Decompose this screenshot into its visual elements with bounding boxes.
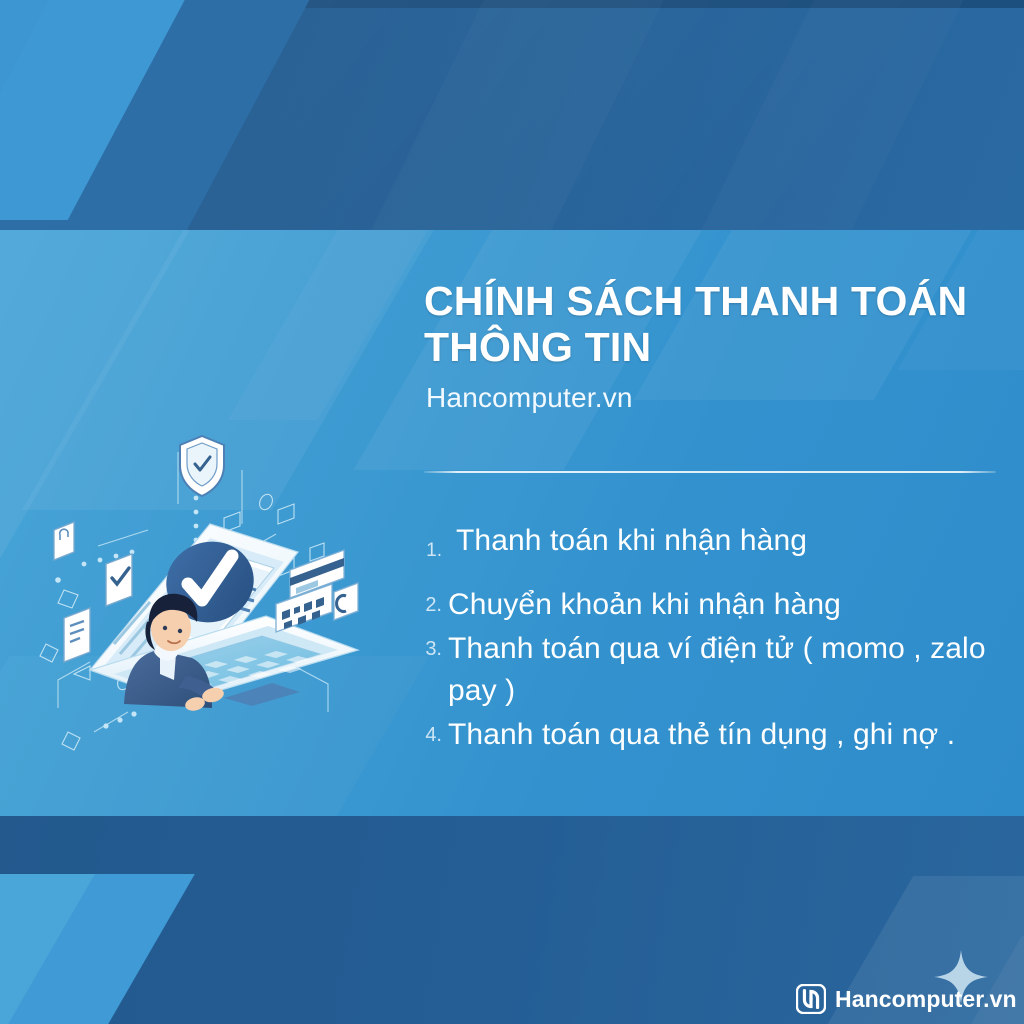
top-banner <box>0 0 1024 230</box>
list-item: 1. Thanh toán khi nhận hàng <box>408 520 1008 582</box>
payment-method-list: 1. Thanh toán khi nhận hàng 2. Chuyển kh… <box>408 520 1008 758</box>
hancomputer-h-mark-icon <box>796 984 826 1014</box>
page-subtitle: Hancomputer.vn <box>426 382 1018 414</box>
list-item: 4. Thanh toán qua thẻ tín dụng , ghi nợ … <box>408 714 1008 756</box>
title-block: CHÍNH SÁCH THANH TOÁN THÔNG TIN Hancompu… <box>424 278 1018 414</box>
list-item: 3. Thanh toán qua ví điện tử ( momo , za… <box>408 628 1008 712</box>
shield-check-icon <box>180 436 224 496</box>
lock-icon <box>54 522 74 560</box>
hancomputer-logo: Hancomputer.vn <box>796 984 1017 1014</box>
list-item-number: 3. <box>408 628 448 670</box>
title-divider <box>424 471 996 473</box>
list-item-label: Chuyển khoản khi nhận hàng <box>448 584 841 626</box>
list-item-number: 1. <box>408 520 448 582</box>
list-item: 2. Chuyển khoản khi nhận hàng <box>408 584 1008 626</box>
list-item-label: Thanh toán khi nhận hàng <box>448 520 807 562</box>
document-icon <box>64 608 90 662</box>
list-item-number: 4. <box>408 714 448 756</box>
payment-illustration <box>28 412 400 764</box>
checklist-icon <box>106 554 132 606</box>
laptop-trackpad <box>224 683 300 706</box>
slide-canvas: CHÍNH SÁCH THANH TOÁN THÔNG TIN Hancompu… <box>0 0 1024 1024</box>
card-chip-icon <box>334 583 358 620</box>
list-item-label: Thanh toán qua thẻ tín dụng , ghi nợ . <box>448 714 955 756</box>
list-item-label: Thanh toán qua ví điện tử ( momo , zalo … <box>448 628 1008 712</box>
page-title: CHÍNH SÁCH THANH TOÁN THÔNG TIN <box>424 278 1018 370</box>
logo-text: Hancomputer.vn <box>835 988 1017 1011</box>
list-item-number: 2. <box>408 584 448 626</box>
